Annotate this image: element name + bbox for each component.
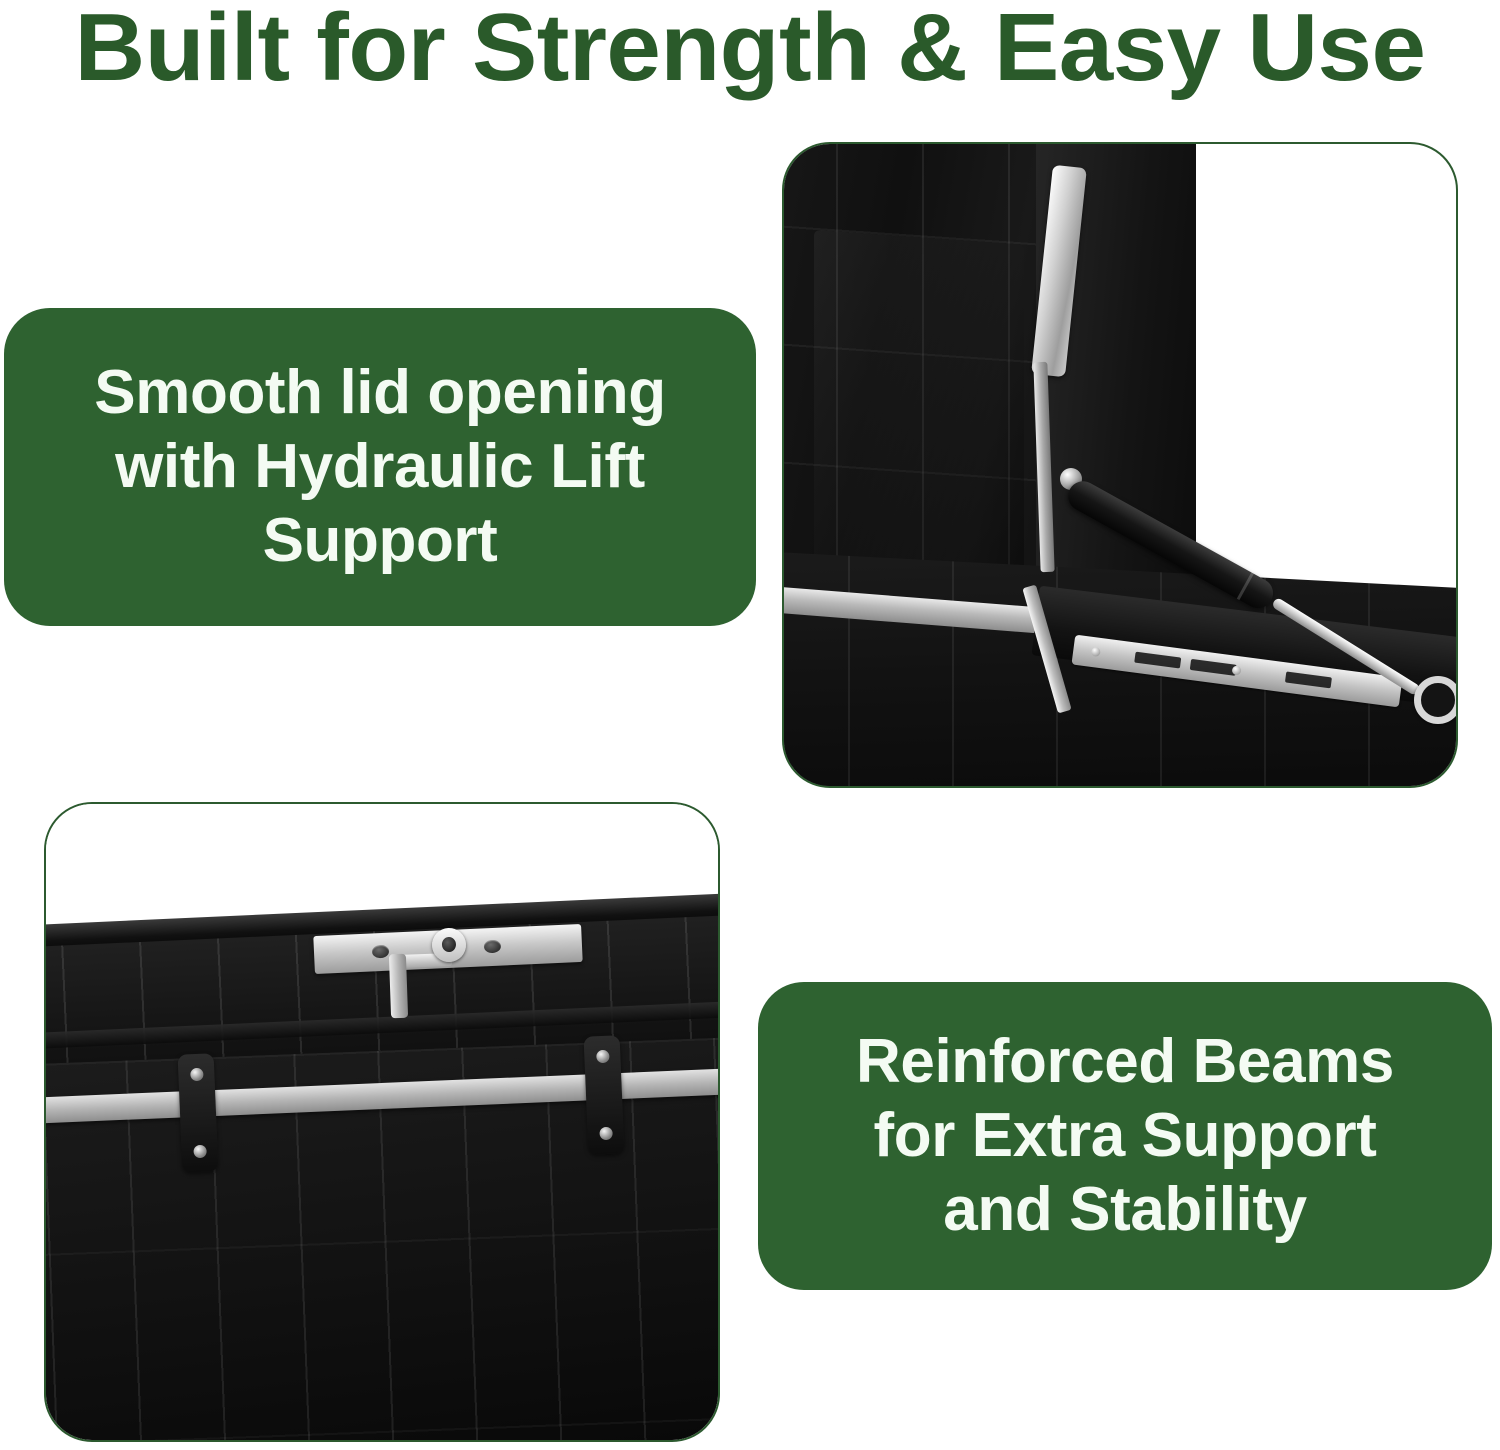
photo-hydraulic-lift	[782, 142, 1458, 788]
latch-hasp	[389, 954, 408, 1019]
page-title: Built for Strength & Easy Use	[0, 0, 1500, 102]
photo-reinforced-beams	[44, 802, 720, 1442]
lock-plate-hole	[484, 940, 502, 954]
plate-slot	[1285, 671, 1332, 688]
photo-hydraulic-lift-stage	[784, 144, 1456, 786]
callout-reinforced-beams-label: Reinforced Beams for Extra Support and S…	[830, 1025, 1420, 1247]
lock-plate-hole	[372, 945, 390, 959]
plate-slot	[1134, 652, 1181, 669]
photo-reinforced-beams-stage	[46, 804, 718, 1440]
gas-strut-eyelet	[1414, 676, 1456, 724]
callout-hydraulic-lift-label: Smooth lid opening with Hydraulic Lift S…	[68, 356, 691, 578]
lid-inner-panel	[814, 230, 1024, 575]
plate-slot	[1190, 659, 1237, 676]
callout-hydraulic-lift: Smooth lid opening with Hydraulic Lift S…	[4, 308, 756, 626]
beam-bracket-tab	[178, 1053, 219, 1172]
beam-bracket-tab	[584, 1035, 625, 1154]
callout-reinforced-beams: Reinforced Beams for Extra Support and S…	[758, 982, 1492, 1290]
